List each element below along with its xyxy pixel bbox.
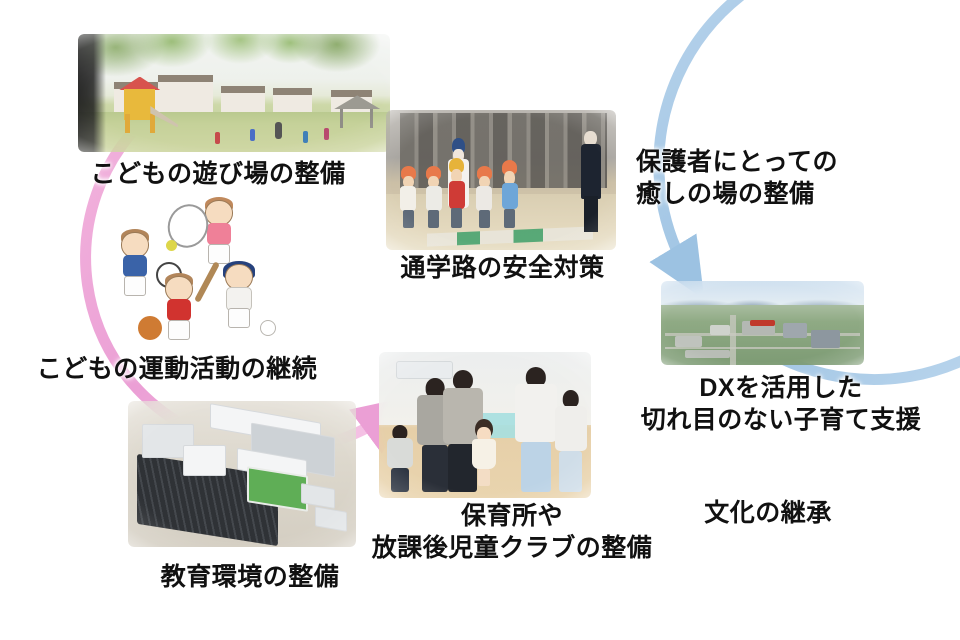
tennis-ball-icon <box>166 240 177 251</box>
photo-nursery <box>379 352 591 498</box>
photo-aerial-town <box>661 281 864 365</box>
caption-sports-continuation: こどもの運動活動の継続 <box>22 353 332 385</box>
caption-playground: こどもの遊び場の整備 <box>82 158 354 190</box>
photo-school-aerial <box>128 401 356 547</box>
baseball-icon <box>260 320 276 336</box>
caption-culture-inheritance: 文化の継承 <box>688 497 848 529</box>
caption-dx-childcare: DXを活用した 切れ目のない子育て支援 <box>621 372 941 436</box>
photo-crossing-guard <box>386 110 616 250</box>
photo-playground <box>78 34 390 152</box>
figure-canvas: こどもの遊び場の整備 通学路の安全対策 保護者にとっての 癒しの場の整備 こども… <box>0 0 960 640</box>
caption-nursery-afterschool: 保育所や 放課後児童クラブの整備 <box>362 500 662 564</box>
caption-school-route-safety: 通学路の安全対策 <box>390 252 615 284</box>
caption-education-environment: 教育環境の整備 <box>152 561 348 593</box>
basketball-icon <box>138 316 162 340</box>
caption-guardian-healing: 保護者にとっての 癒しの場の整備 <box>636 146 936 210</box>
illustration-sports-kids <box>100 196 296 348</box>
